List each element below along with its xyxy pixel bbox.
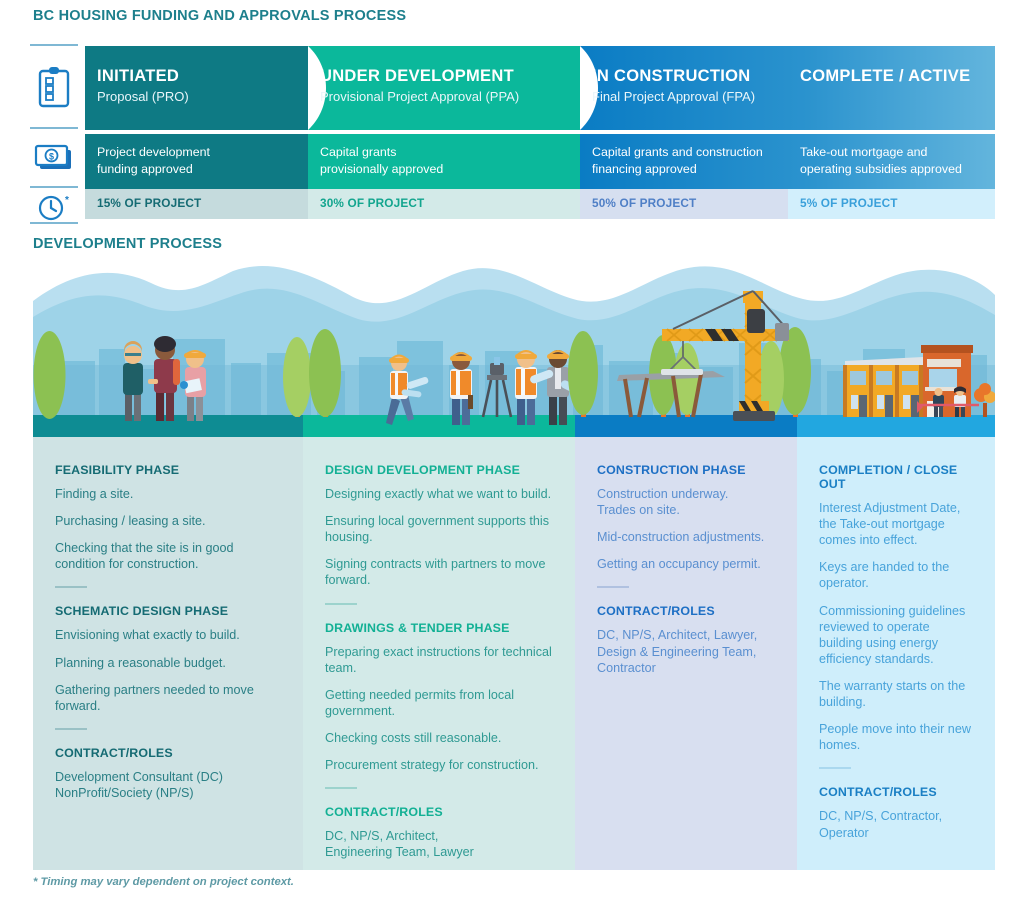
phase-item: Commissioning guidelines reviewed to ope… bbox=[819, 603, 973, 667]
phase-item: Gathering partners needed to move forwar… bbox=[55, 682, 281, 714]
stage-title: COMPLETE / ACTIVE bbox=[800, 67, 987, 86]
phase-panel-design: DESIGN DEVELOPMENT PHASEDesigning exactl… bbox=[303, 437, 575, 870]
percent-cell-2: 50% OF PROJECT bbox=[580, 189, 788, 219]
phase-heading: CONTRACT/ROLES bbox=[597, 604, 775, 618]
phase-heading: CONTRACT/ROLES bbox=[819, 785, 973, 799]
phase-item: Interest Adjustment Date, the Take-out m… bbox=[819, 500, 973, 548]
page-title: BC HOUSING FUNDING AND APPROVALS PROCESS bbox=[33, 8, 406, 24]
stage-header-cell-1: UNDER DEVELOPMENT Provisional Project Ap… bbox=[308, 46, 580, 130]
funding-cell-1: Capital grants provisionally approved bbox=[308, 134, 580, 189]
block-divider bbox=[55, 586, 87, 588]
status-table: INITIATED Proposal (PRO) UNDER DEVELOPME… bbox=[85, 46, 995, 224]
phase-heading: DRAWINGS & TENDER PHASE bbox=[325, 621, 553, 635]
percent-text: 50% OF PROJECT bbox=[592, 196, 780, 210]
percent-text: 5% OF PROJECT bbox=[800, 196, 987, 210]
money-icon: $ bbox=[32, 136, 76, 180]
rail-divider-low bbox=[30, 186, 78, 188]
funding-cell-3: Take-out mortgage and operating subsidie… bbox=[788, 134, 995, 189]
stage-title: UNDER DEVELOPMENT bbox=[320, 67, 572, 86]
rail-divider-mid bbox=[30, 127, 78, 129]
footnote: * Timing may vary dependent on project c… bbox=[33, 876, 294, 888]
stage-subtitle: Final Project Approval (FPA) bbox=[592, 89, 780, 105]
phase-item: Planning a reasonable budget. bbox=[55, 655, 281, 671]
block-divider bbox=[325, 787, 357, 789]
phase-panel-construction: CONSTRUCTION PHASEConstruction underway.… bbox=[575, 437, 797, 870]
phase-item: DC, NP/S, Architect, Lawyer, Design & En… bbox=[597, 627, 775, 675]
block-divider bbox=[55, 728, 87, 730]
phase-item: Finding a site. bbox=[55, 486, 281, 502]
icon-rail: $ * bbox=[28, 44, 80, 224]
phase-heading: CONTRACT/ROLES bbox=[55, 746, 281, 760]
phase-item: Getting an occupancy permit. bbox=[597, 556, 775, 572]
svg-text:$: $ bbox=[49, 152, 54, 162]
phase-item: Construction underway. Trades on site. bbox=[597, 486, 775, 518]
block-divider bbox=[597, 586, 629, 588]
clipboard-icon bbox=[32, 54, 76, 120]
percent-row: 15% OF PROJECT 30% OF PROJECT 50% OF PRO… bbox=[85, 189, 995, 219]
phase-item: Envisioning what exactly to build. bbox=[55, 627, 281, 643]
phase-panel-feasibility: FEASIBILITY PHASEFinding a site.Purchasi… bbox=[33, 437, 303, 870]
phase-panels: FEASIBILITY PHASEFinding a site.Purchasi… bbox=[33, 437, 995, 870]
percent-cell-0: 15% OF PROJECT bbox=[85, 189, 308, 219]
funding-cell-0: Project development funding approved bbox=[85, 134, 308, 189]
phase-item: Preparing exact instructions for technic… bbox=[325, 644, 553, 676]
funding-row: Project development funding approved Cap… bbox=[85, 134, 995, 189]
stage-header-cell-0: INITIATED Proposal (PRO) bbox=[85, 46, 308, 130]
funding-cell-2: Capital grants and construction financin… bbox=[580, 134, 788, 189]
phase-item: Development Consultant (DC) NonProfit/So… bbox=[55, 769, 281, 801]
percent-text: 15% OF PROJECT bbox=[97, 196, 300, 210]
stage-header-row: INITIATED Proposal (PRO) UNDER DEVELOPME… bbox=[85, 46, 995, 130]
percent-text: 30% OF PROJECT bbox=[320, 196, 572, 210]
phase-item: Getting needed permits from local govern… bbox=[325, 687, 553, 719]
phase-item: The warranty starts on the building. bbox=[819, 678, 973, 710]
phase-heading: DESIGN DEVELOPMENT PHASE bbox=[325, 463, 553, 477]
phase-heading: CONSTRUCTION PHASE bbox=[597, 463, 775, 477]
funding-text: Capital grants provisionally approved bbox=[320, 144, 570, 177]
phase-item: Purchasing / leasing a site. bbox=[55, 513, 281, 529]
rail-divider-bottom bbox=[30, 222, 78, 224]
block-divider bbox=[819, 767, 851, 769]
phase-item: Checking costs still reasonable. bbox=[325, 730, 553, 746]
phase-heading: SCHEMATIC DESIGN PHASE bbox=[55, 604, 281, 618]
stage-title: IN CONSTRUCTION bbox=[592, 67, 780, 86]
stage-subtitle: Provisional Project Approval (PPA) bbox=[320, 89, 572, 105]
phase-item: Keys are handed to the operator. bbox=[819, 559, 973, 591]
infographic-page: BC HOUSING FUNDING AND APPROVALS PROCESS… bbox=[0, 0, 1024, 903]
stage-title: INITIATED bbox=[97, 67, 300, 86]
percent-cell-1: 30% OF PROJECT bbox=[308, 189, 580, 219]
phase-item: Mid-construction adjustments. bbox=[597, 529, 775, 545]
stage-header-cell-3: COMPLETE / ACTIVE bbox=[788, 46, 995, 130]
phase-item: Ensuring local government supports this … bbox=[325, 513, 553, 545]
phase-item: Procurement strategy for construction. bbox=[325, 757, 553, 773]
percent-cell-3: 5% OF PROJECT bbox=[788, 189, 995, 219]
phase-item: DC, NP/S, Architect, Engineering Team, L… bbox=[325, 828, 553, 860]
phase-item: People move into their new homes. bbox=[819, 721, 973, 753]
clock-icon: * bbox=[32, 193, 76, 223]
svg-text:*: * bbox=[65, 195, 69, 206]
phase-item: Signing contracts with partners to move … bbox=[325, 556, 553, 588]
stage-header-cell-2: IN CONSTRUCTION Final Project Approval (… bbox=[580, 46, 788, 130]
phase-heading: COMPLETION / CLOSE OUT bbox=[819, 463, 973, 491]
funding-text: Capital grants and construction financin… bbox=[592, 144, 778, 177]
phase-heading: CONTRACT/ROLES bbox=[325, 805, 553, 819]
stage-subtitle: Proposal (PRO) bbox=[97, 89, 300, 105]
phase-item: Checking that the site is in good condit… bbox=[55, 540, 281, 572]
rail-divider-top bbox=[30, 44, 78, 46]
phase-heading: FEASIBILITY PHASE bbox=[55, 463, 281, 477]
section-title: DEVELOPMENT PROCESS bbox=[33, 236, 222, 252]
phase-item: DC, NP/S, Contractor, Operator bbox=[819, 808, 973, 840]
block-divider bbox=[325, 603, 357, 605]
funding-text: Take-out mortgage and operating subsidie… bbox=[800, 144, 985, 177]
illustration-band bbox=[33, 265, 995, 437]
phase-panel-completion: COMPLETION / CLOSE OUTInterest Adjustmen… bbox=[797, 437, 995, 870]
phase-item: Designing exactly what we want to build. bbox=[325, 486, 553, 502]
funding-text: Project development funding approved bbox=[97, 144, 298, 177]
